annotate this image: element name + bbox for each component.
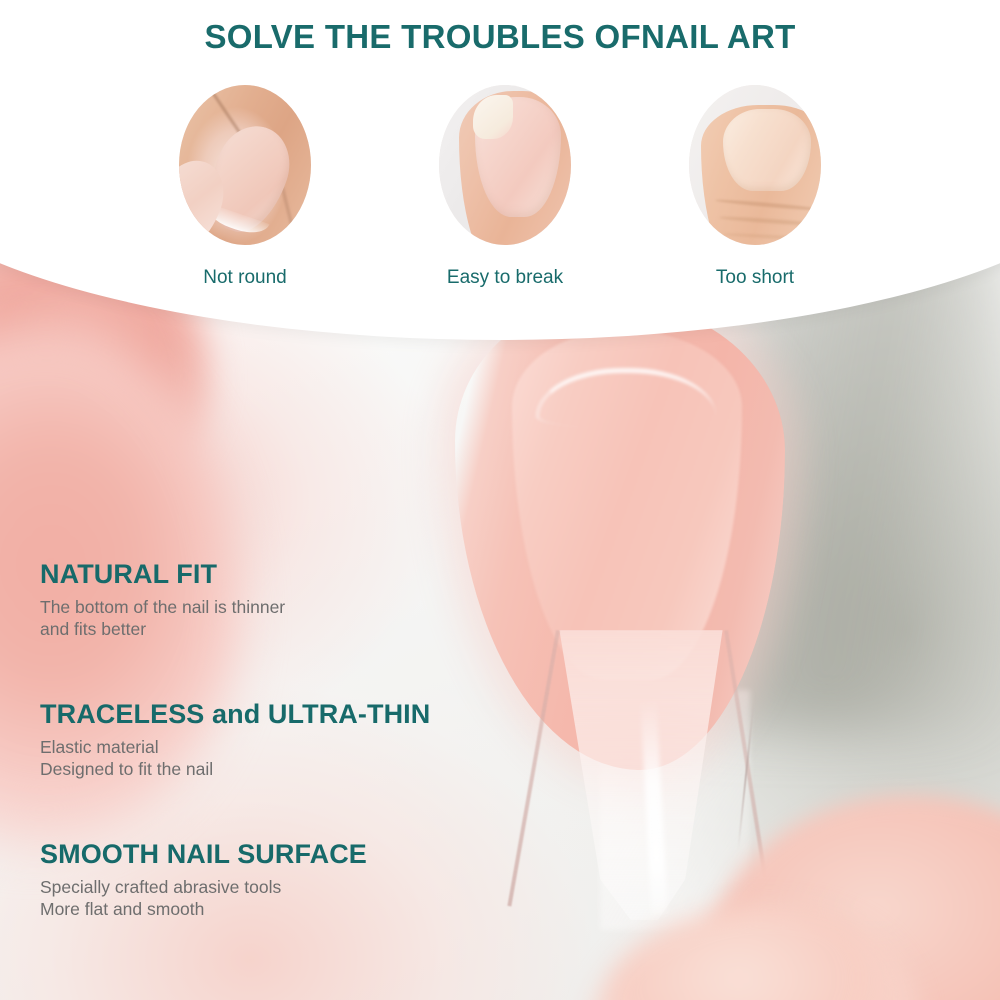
problem-caption: Too short [670, 267, 840, 289]
problem-image-too-short [689, 85, 821, 245]
feature-line: Specially crafted abrasive tools [40, 876, 510, 899]
feature-line: The bottom of the nail is thinner [40, 596, 510, 619]
feature-line: Elastic material [40, 736, 510, 759]
feature-heading: TRACELESS and ULTRA-THIN [40, 700, 510, 730]
feature-traceless-ultra-thin: TRACELESS and ULTRA-THIN Elastic materia… [40, 700, 510, 781]
page-title: SOLVE THE TROUBLES OFNAIL ART [0, 18, 1000, 56]
feature-heading: NATURAL FIT [40, 560, 510, 590]
problem-item-not-round: Not round [160, 85, 330, 289]
feature-heading: SMOOTH NAIL SURFACE [40, 840, 510, 870]
feature-line: and fits better [40, 618, 510, 641]
feature-natural-fit: NATURAL FIT The bottom of the nail is th… [40, 560, 510, 641]
feature-description: The bottom of the nail is thinner and fi… [40, 596, 510, 642]
feature-smooth-nail-surface: SMOOTH NAIL SURFACE Specially crafted ab… [40, 840, 510, 921]
product-infographic: SOLVE THE TROUBLES OFNAIL ART Not round … [0, 0, 1000, 1000]
problem-item-easy-to-break: Easy to break [420, 85, 590, 289]
feature-description: Elastic material Designed to fit the nai… [40, 736, 510, 782]
problem-image-not-round [179, 85, 311, 245]
problem-caption: Not round [160, 267, 330, 289]
problem-item-too-short: Too short [670, 85, 840, 289]
problem-image-easy-to-break [439, 85, 571, 245]
feature-description: Specially crafted abrasive tools More fl… [40, 876, 510, 922]
feature-line: Designed to fit the nail [40, 758, 510, 781]
problem-caption: Easy to break [420, 267, 590, 289]
feature-line: More flat and smooth [40, 898, 510, 921]
fingernail-shape [723, 109, 811, 191]
